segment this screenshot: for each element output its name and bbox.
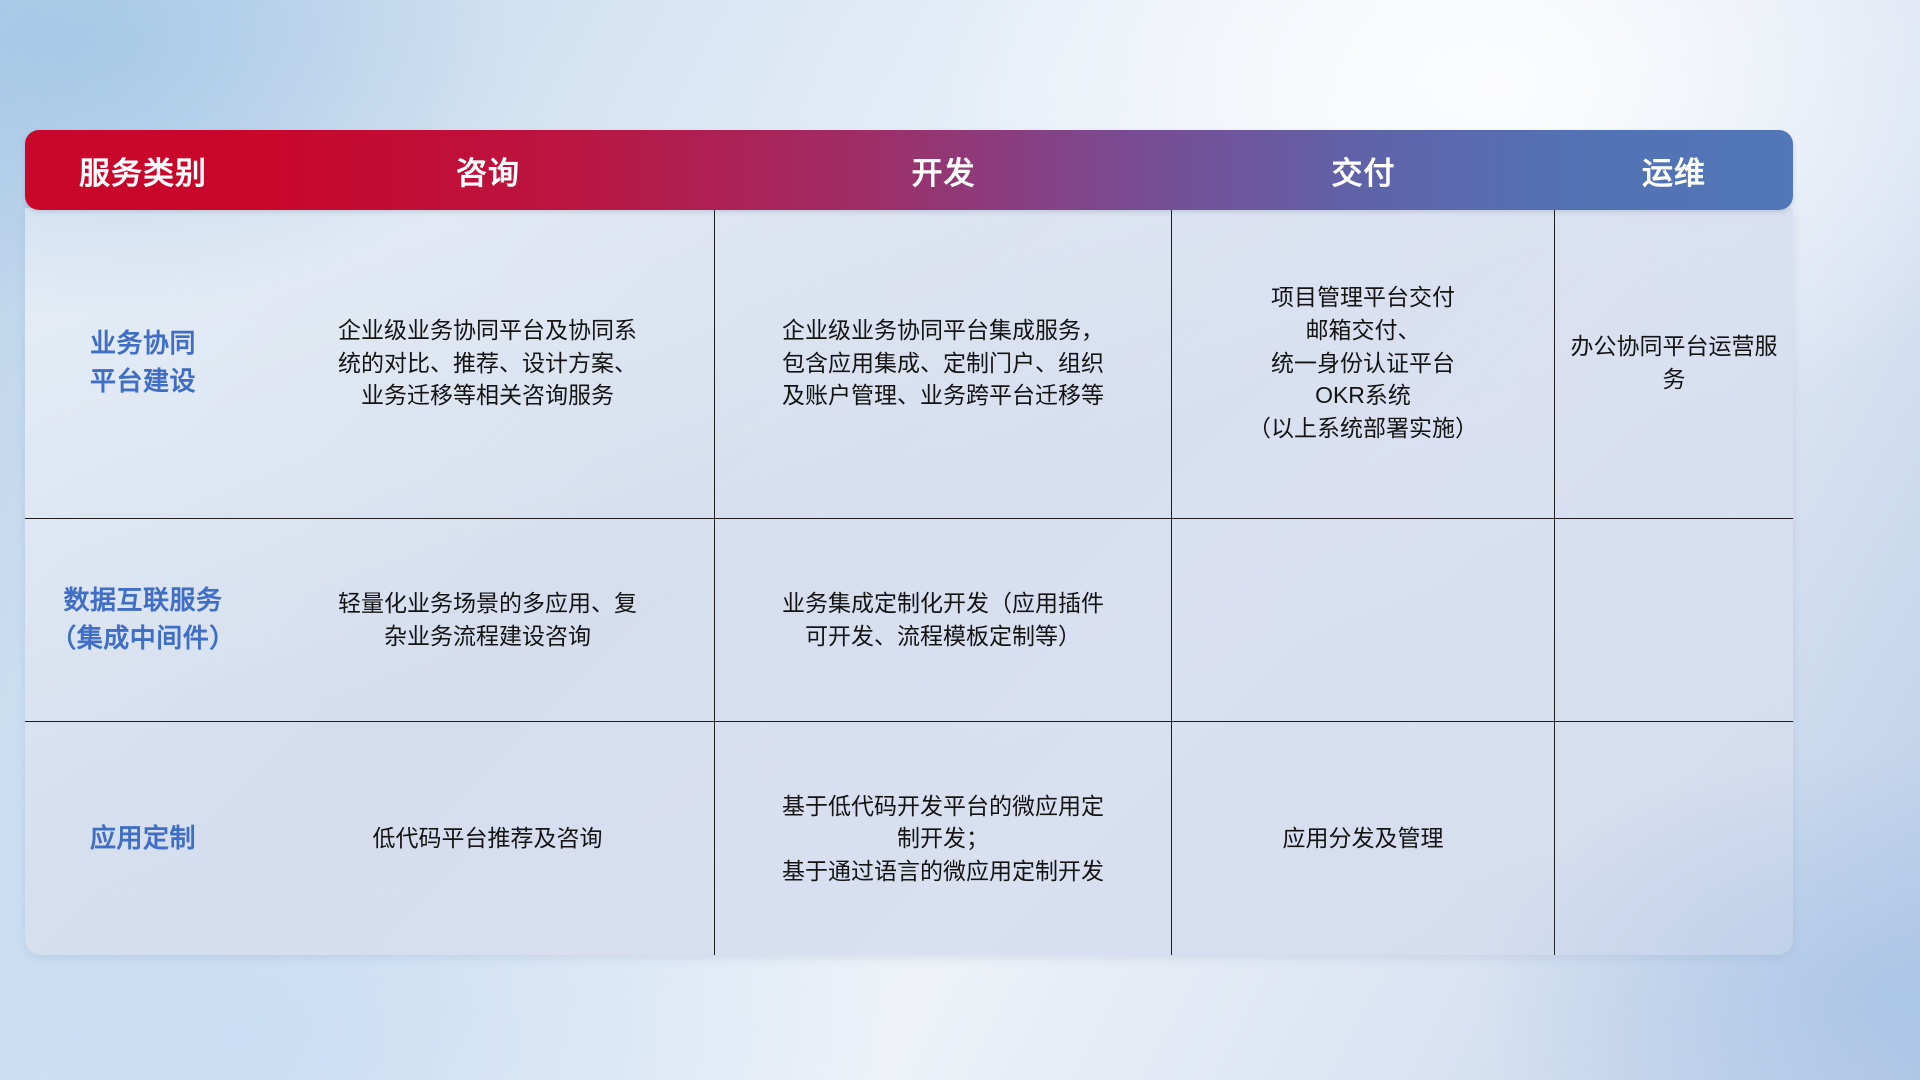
table-row: 业务协同 平台建设 企业级业务协同平台及协同系 统的对比、推荐、设计方案、 业务…	[25, 208, 1793, 519]
cell-delivery	[1172, 519, 1555, 721]
cell-delivery: 项目管理平台交付 邮箱交付、 统一身份认证平台 OKR系统 （以上系统部署实施）	[1172, 208, 1555, 518]
table-header-cell-operations: 运维	[1555, 130, 1793, 210]
table-header-cell-delivery: 交付	[1172, 130, 1555, 210]
table-header-cell-category: 服务类别	[25, 130, 261, 210]
cell-operations	[1555, 722, 1793, 955]
cell-consulting: 轻量化业务场景的多应用、复 杂业务流程建设咨询	[261, 519, 715, 721]
slide-canvas: 服务类别 咨询 开发 交付 运维 业务协同 平台建设 企业级业务协同平台及协同系…	[0, 0, 1920, 1080]
cell-operations	[1555, 519, 1793, 721]
table-row: 数据互联服务 （集成中间件） 轻量化业务场景的多应用、复 杂业务流程建设咨询 业…	[25, 519, 1793, 722]
cell-development: 基于低代码开发平台的微应用定 制开发； 基于通过语言的微应用定制开发	[715, 722, 1172, 955]
cell-development: 企业级业务协同平台集成服务， 包含应用集成、定制门户、组织 及账户管理、业务跨平…	[715, 208, 1172, 518]
service-matrix-table: 服务类别 咨询 开发 交付 运维 业务协同 平台建设 企业级业务协同平台及协同系…	[25, 130, 1793, 955]
cell-consulting: 低代码平台推荐及咨询	[261, 722, 715, 955]
table-header-cell-consulting: 咨询	[261, 130, 715, 210]
table-header-cell-development: 开发	[715, 130, 1172, 210]
cell-delivery: 应用分发及管理	[1172, 722, 1555, 955]
row-category-label: 数据互联服务 （集成中间件）	[25, 519, 261, 721]
row-category-label: 应用定制	[25, 722, 261, 955]
row-category-label: 业务协同 平台建设	[25, 208, 261, 518]
table-header-row: 服务类别 咨询 开发 交付 运维	[25, 130, 1793, 210]
cell-consulting: 企业级业务协同平台及协同系 统的对比、推荐、设计方案、 业务迁移等相关咨询服务	[261, 208, 715, 518]
cell-development: 业务集成定制化开发（应用插件 可开发、流程模板定制等）	[715, 519, 1172, 721]
cell-operations: 办公协同平台运营服务	[1555, 208, 1793, 518]
table-body: 业务协同 平台建设 企业级业务协同平台及协同系 统的对比、推荐、设计方案、 业务…	[25, 208, 1793, 955]
table-row: 应用定制 低代码平台推荐及咨询 基于低代码开发平台的微应用定 制开发； 基于通过…	[25, 722, 1793, 955]
